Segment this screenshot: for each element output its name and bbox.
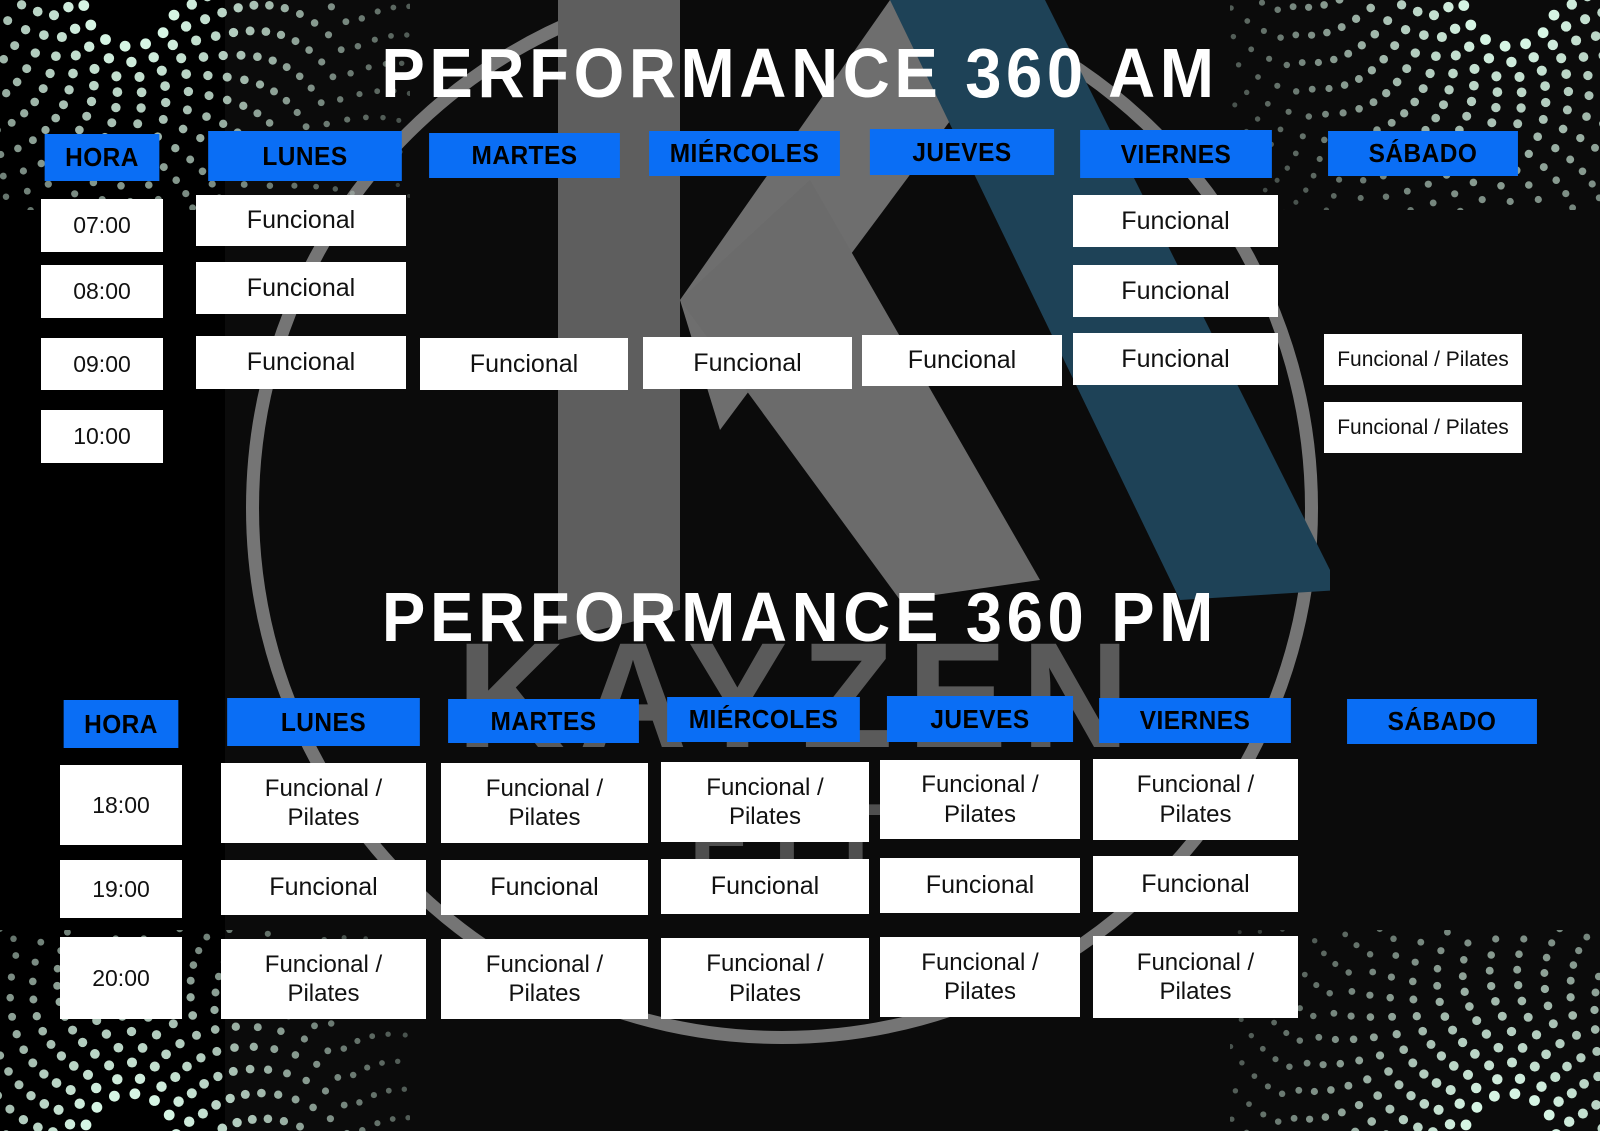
- class-cell-am-martes-0900[interactable]: Funcional: [420, 338, 628, 390]
- class-cell-pm-jueves-1900[interactable]: Funcional: [880, 858, 1080, 913]
- header-lunes-am[interactable]: LUNES: [208, 131, 402, 181]
- class-cell-pm-martes-2000[interactable]: Funcional /Pilates: [441, 939, 648, 1019]
- header-martes-am[interactable]: MARTES: [429, 133, 620, 178]
- class-cell-am-sabado-0900[interactable]: Funcional / Pilates: [1324, 334, 1522, 385]
- header-jueves-pm[interactable]: JUEVES: [887, 696, 1073, 742]
- hour-cell-pm-1900: 19:00: [60, 860, 182, 918]
- hour-cell-pm-1800: 18:00: [60, 765, 182, 845]
- class-cell-am-lunes-0700[interactable]: Funcional: [196, 195, 406, 246]
- class-cell-pm-lunes-1800[interactable]: Funcional /Pilates: [221, 763, 426, 843]
- class-cell-am-viernes-0700[interactable]: Funcional: [1073, 195, 1278, 247]
- class-cell-pm-martes-1900[interactable]: Funcional: [441, 860, 648, 915]
- header-miercoles-am[interactable]: MIÉRCOLES: [649, 131, 840, 176]
- class-cell-pm-miercoles-1900[interactable]: Funcional: [661, 859, 869, 914]
- class-cell-am-miercoles-0900[interactable]: Funcional: [643, 337, 852, 389]
- schedule-poster: KAYZEN FIT PERFORMANCE 360 AM HORA LUNES…: [0, 0, 1600, 1131]
- class-cell-pm-viernes-1900[interactable]: Funcional: [1093, 856, 1298, 912]
- class-cell-am-lunes-0900[interactable]: Funcional: [196, 336, 406, 389]
- class-cell-pm-viernes-1800[interactable]: Funcional /Pilates: [1093, 759, 1298, 840]
- header-martes-pm[interactable]: MARTES: [448, 699, 639, 743]
- class-cell-pm-miercoles-1800[interactable]: Funcional /Pilates: [661, 762, 869, 842]
- hour-cell-am-0800: 08:00: [41, 265, 163, 318]
- class-cell-pm-lunes-1900[interactable]: Funcional: [221, 860, 426, 915]
- class-cell-am-sabado-1000[interactable]: Funcional / Pilates: [1324, 402, 1522, 453]
- section-title-am: PERFORMANCE 360 AM: [56, 33, 1544, 113]
- hour-cell-am-0900: 09:00: [41, 338, 163, 390]
- section-title-pm: PERFORMANCE 360 PM: [56, 577, 1544, 657]
- class-cell-am-viernes-0900[interactable]: Funcional: [1073, 333, 1278, 385]
- header-sabado-am[interactable]: SÁBADO: [1328, 131, 1518, 176]
- class-cell-pm-jueves-2000[interactable]: Funcional /Pilates: [880, 937, 1080, 1017]
- header-lunes-pm[interactable]: LUNES: [227, 698, 420, 746]
- class-cell-am-jueves-0900[interactable]: Funcional: [862, 335, 1062, 386]
- hour-cell-am-0700: 07:00: [41, 199, 163, 252]
- class-cell-am-viernes-0800[interactable]: Funcional: [1073, 265, 1278, 317]
- header-miercoles-pm[interactable]: MIÉRCOLES: [667, 697, 860, 742]
- header-hora-am[interactable]: HORA: [45, 134, 160, 181]
- class-cell-pm-martes-1800[interactable]: Funcional /Pilates: [441, 763, 648, 843]
- class-cell-am-lunes-0800[interactable]: Funcional: [196, 262, 406, 314]
- class-cell-pm-jueves-1800[interactable]: Funcional /Pilates: [880, 760, 1080, 839]
- header-viernes-pm[interactable]: VIERNES: [1099, 698, 1291, 743]
- hour-cell-pm-2000: 20:00: [60, 937, 182, 1019]
- header-jueves-am[interactable]: JUEVES: [870, 129, 1054, 175]
- hour-cell-am-1000: 10:00: [41, 410, 163, 463]
- header-sabado-pm[interactable]: SÁBADO: [1347, 699, 1537, 744]
- class-cell-pm-lunes-2000[interactable]: Funcional /Pilates: [221, 939, 426, 1019]
- header-viernes-am[interactable]: VIERNES: [1080, 130, 1272, 178]
- class-cell-pm-miercoles-2000[interactable]: Funcional /Pilates: [661, 938, 869, 1019]
- header-hora-pm[interactable]: HORA: [64, 700, 179, 748]
- class-cell-pm-viernes-2000[interactable]: Funcional /Pilates: [1093, 936, 1298, 1018]
